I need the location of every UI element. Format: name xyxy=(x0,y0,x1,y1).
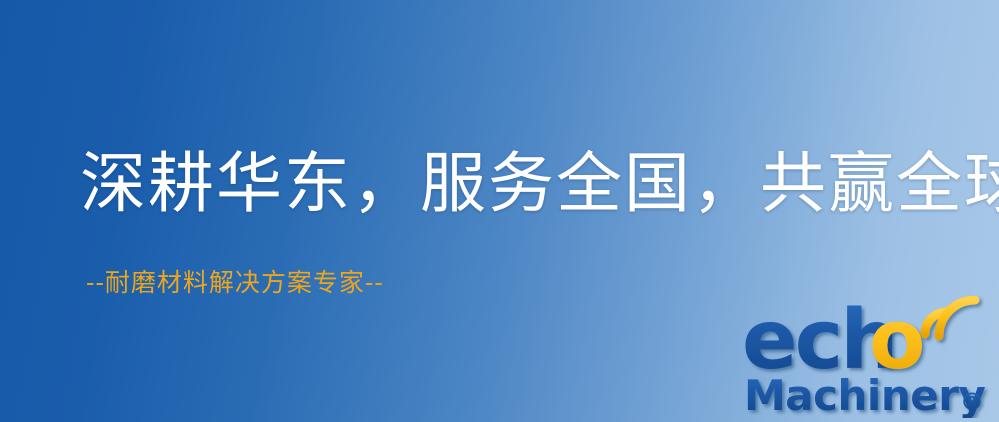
brand-logo[interactable]: ech o Machinery ® xyxy=(742,296,992,418)
signal-arcs-icon xyxy=(925,300,975,336)
banner-subtitle: --耐磨材料解决方案专家-- xyxy=(86,268,384,298)
hero-banner: 深耕华东，服务全国，共赢全球 --耐磨材料解决方案专家-- xyxy=(0,0,999,422)
brand-logo-svg: ech o Machinery ® xyxy=(742,296,992,418)
registered-trademark-icon: ® xyxy=(960,388,984,416)
page-title: 深耕华东，服务全国，共赢全球 xyxy=(80,148,950,219)
logo-machinery-text: Machinery xyxy=(744,371,985,418)
logo-subbrand: Machinery ® xyxy=(744,371,985,418)
